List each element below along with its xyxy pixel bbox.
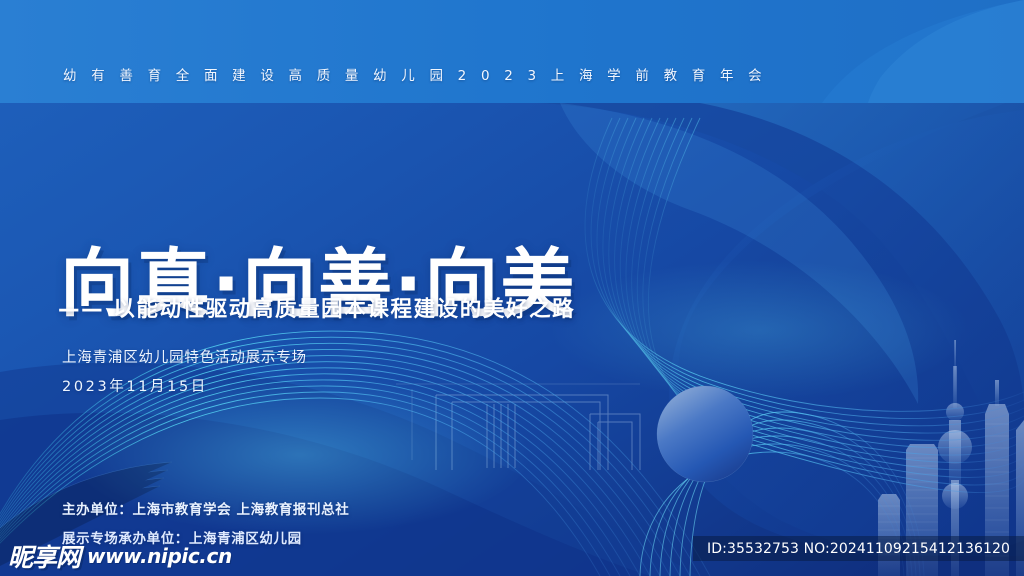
id-strip: ID:35532753 NO:20241109215412136120 [693,536,1024,561]
event-banner-line: 幼 有 善 育 全 面 建 设 高 质 量 幼 儿 园 2 0 2 3 上 海 … [63,64,767,84]
decor-sphere [657,386,753,482]
event-date: 2023年11月15日 [62,375,208,396]
id-text: ID:35532753 NO:20241109215412136120 [707,541,1010,557]
organizer-line-1: 主办单位：上海市教育学会 上海教育报刊总社 [62,498,349,518]
page-subtitle: —— 以能动性驱动高质量园本课程建设的美好之路 [58,297,575,323]
watermark-logo: 昵享网 [8,538,80,574]
watermark: 昵享网 www.nipic.cn [8,538,232,574]
watermark-url: www.nipic.cn [87,544,232,568]
venue-text: 上海青浦区幼儿园特色活动展示专场 [62,346,307,367]
poster-canvas: 幼 有 善 育 全 面 建 设 高 质 量 幼 儿 园 2 0 2 3 上 海 … [0,0,1024,576]
